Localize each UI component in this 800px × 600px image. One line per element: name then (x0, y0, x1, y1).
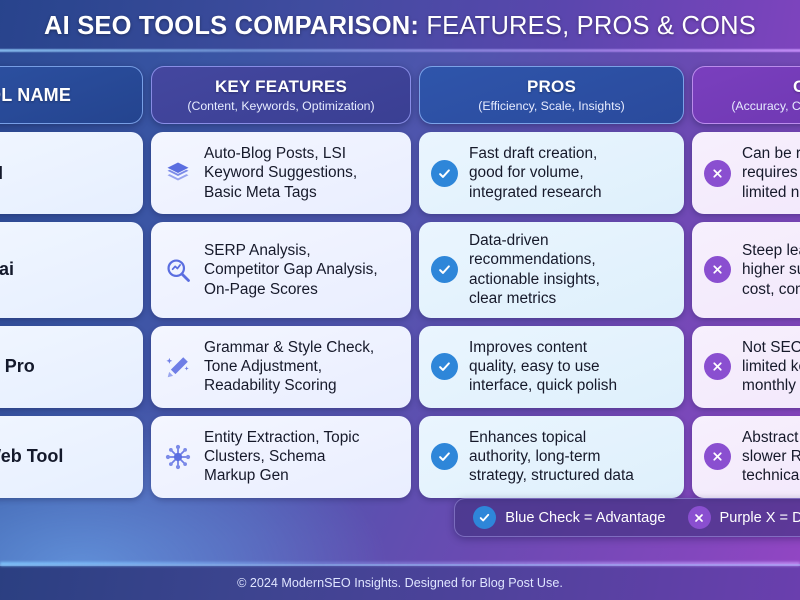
header-title: KEY FEATURES (215, 77, 347, 97)
layers-icon (163, 158, 193, 188)
tool-name-cell: SemanticWeb Tool (0, 416, 143, 498)
cons-text: Can be repetitive, requires heavy editin… (742, 144, 800, 202)
page-title: AI SEO TOOLS COMPARISON: FEATURES, PROS … (44, 12, 756, 41)
cross-icon (704, 443, 731, 470)
cross-icon (704, 160, 731, 187)
check-icon (431, 443, 458, 470)
legend-item-drawback: Purple X = Drawback (688, 506, 800, 529)
page-title-light: FEATURES, PROS & CONS (419, 12, 756, 40)
header-subtitle: (Content, Keywords, Optimization) (187, 99, 374, 113)
features-text: Entity Extraction, Topic Clusters, Schem… (204, 428, 359, 486)
table-row: SemanticWeb Tool (0, 416, 800, 498)
tool-name-label: RankBrain.ai (0, 259, 14, 280)
cons-text: Steep learning curve, higher subscriptio… (742, 241, 800, 299)
table-row: RankBrain.ai SERP Analysis, Competitor G… (0, 222, 800, 318)
features-text: SERP Analysis, Competitor Gap Analysis, … (204, 241, 378, 299)
cons-text: Not SEO-focused, limited keyword tools, … (742, 338, 800, 396)
cons-text: Abstract concepts, slower ROI, needs tec… (742, 428, 800, 486)
header-title: CONS (793, 77, 800, 97)
footer-text: © 2024 ModernSEO Insights. Designed for … (237, 576, 563, 590)
title-bar: AI SEO TOOLS COMPARISON: FEATURES, PROS … (0, 0, 800, 52)
features-text: Auto-Blog Posts, LSI Keyword Suggestions… (204, 144, 357, 202)
tool-name-cell: WriteSmart Pro (0, 326, 143, 408)
cross-icon (704, 256, 731, 283)
column-header-cons: CONS (Accuracy, Cost, Hallucinations) (692, 66, 800, 124)
tool-name-label: AutoText AI (0, 163, 3, 184)
page-title-strong: AI SEO TOOLS COMPARISON: (44, 12, 419, 40)
tool-name-cell: AutoText AI (0, 132, 143, 214)
header-title: TOOL NAME (0, 85, 71, 106)
pros-cell: Enhances topical authority, long-term st… (419, 416, 684, 498)
table-header-row: TOOL NAME KEY FEATURES (Content, Keyword… (0, 66, 800, 124)
check-icon (431, 256, 458, 283)
header-title: PROS (527, 77, 576, 97)
legend-label: Purple X = Drawback (720, 510, 800, 526)
pros-cell: Data-driven recommendations, actionable … (419, 222, 684, 318)
key-features-cell: SERP Analysis, Competitor Gap Analysis, … (151, 222, 411, 318)
footer: © 2024 ModernSEO Insights. Designed for … (0, 564, 800, 600)
infographic-page: AI SEO TOOLS COMPARISON: FEATURES, PROS … (0, 0, 800, 600)
table-row: AutoText AI Auto-Blog Posts, LSI Keyword… (0, 132, 800, 214)
pros-text: Data-driven recommendations, actionable … (469, 231, 600, 309)
check-icon (431, 160, 458, 187)
legend-item-advantage: Blue Check = Advantage (473, 506, 665, 529)
legend: Blue Check = Advantage Purple X = Drawba… (454, 498, 800, 537)
header-subtitle: (Accuracy, Cost, Hallucinations) (731, 99, 800, 113)
pros-cell: Fast draft creation, good for volume, in… (419, 132, 684, 214)
header-subtitle: (Efficiency, Scale, Insights) (478, 99, 624, 113)
pros-text: Fast draft creation, good for volume, in… (469, 144, 602, 202)
comparison-table: TOOL NAME KEY FEATURES (Content, Keyword… (0, 52, 800, 498)
cons-cell: Not SEO-focused, limited keyword tools, … (692, 326, 800, 408)
tool-name-label: SemanticWeb Tool (0, 446, 63, 467)
pros-text: Enhances topical authority, long-term st… (469, 428, 634, 486)
features-text: Grammar & Style Check, Tone Adjustment, … (204, 338, 374, 396)
tool-name-cell: RankBrain.ai (0, 222, 143, 318)
column-header-tool-name: TOOL NAME (0, 66, 143, 124)
cons-cell: Can be repetitive, requires heavy editin… (692, 132, 800, 214)
legend-label: Blue Check = Advantage (505, 510, 665, 526)
key-features-cell: Entity Extraction, Topic Clusters, Schem… (151, 416, 411, 498)
legend-area: Blue Check = Advantage Purple X = Drawba… (0, 498, 800, 537)
cross-icon (704, 353, 731, 380)
check-icon (473, 506, 496, 529)
search-analytics-icon (163, 255, 193, 285)
column-header-key-features: KEY FEATURES (Content, Keywords, Optimiz… (151, 66, 411, 124)
pros-text: Improves content quality, easy to use in… (469, 338, 617, 396)
check-icon (431, 353, 458, 380)
key-features-cell: Grammar & Style Check, Tone Adjustment, … (151, 326, 411, 408)
key-features-cell: Auto-Blog Posts, LSI Keyword Suggestions… (151, 132, 411, 214)
tool-name-label: WriteSmart Pro (0, 356, 35, 377)
magic-wand-icon (163, 352, 193, 382)
cons-cell: Steep learning curve, higher subscriptio… (692, 222, 800, 318)
column-header-pros: PROS (Efficiency, Scale, Insights) (419, 66, 684, 124)
cross-icon (688, 506, 711, 529)
network-nodes-icon (163, 442, 193, 472)
table-row: WriteSmart Pro Grammar & Style Check, To… (0, 326, 800, 408)
pros-cell: Improves content quality, easy to use in… (419, 326, 684, 408)
cons-cell: Abstract concepts, slower ROI, needs tec… (692, 416, 800, 498)
